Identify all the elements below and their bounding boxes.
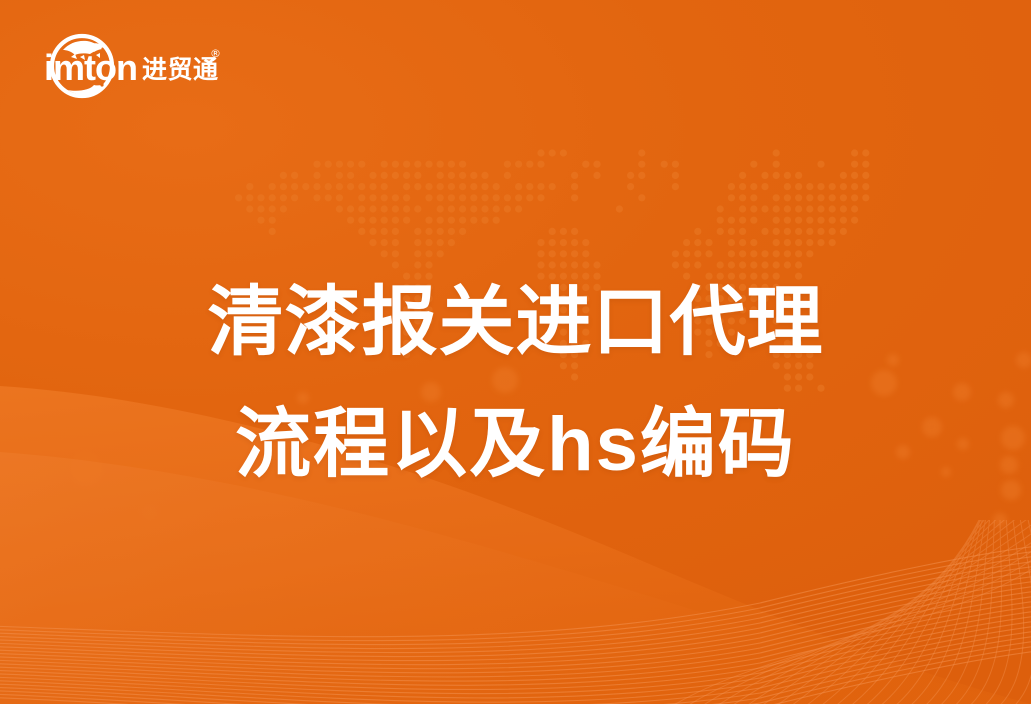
logo-chinese-name: 进贸通 (142, 55, 219, 84)
brand-logo[interactable]: imton 进贸通 ® (44, 28, 220, 104)
trademark-icon: ® (210, 47, 220, 60)
headline-block: 清漆报关进口代理 流程以及hs编码 (0, 262, 1031, 506)
logo-wordmark: imton (44, 47, 137, 88)
headline-line-1: 清漆报关进口代理 (0, 262, 1031, 384)
headline-line-2: 流程以及hs编码 (0, 384, 1031, 506)
promo-banner: imton 进贸通 ® 清漆报关进口代理 流程以及hs编码 (0, 0, 1031, 704)
